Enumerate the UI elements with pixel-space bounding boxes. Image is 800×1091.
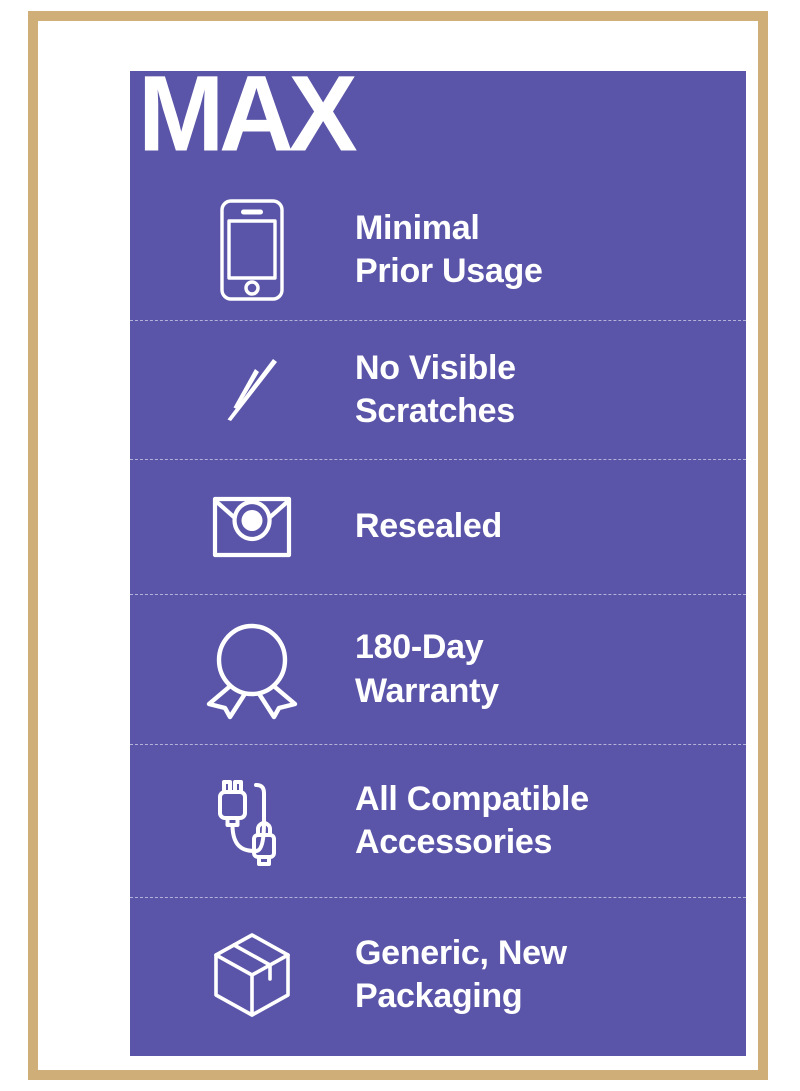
feature-row-resealed: Resealed [130, 459, 746, 594]
feature-label: Resealed [355, 505, 502, 548]
feature-label: 180-Day Warranty [355, 626, 499, 712]
white-matte: MAX [38, 21, 758, 1070]
gold-frame-border: MAX [28, 11, 768, 1080]
feature-label: No Visible Scratches [355, 347, 516, 433]
feature-row-packaging: Generic, New Packaging [130, 897, 746, 1052]
purple-panel: MAX [130, 71, 746, 1056]
feature-row-no-visible-scratches: No Visible Scratches [130, 320, 746, 459]
poster: MAX [0, 0, 800, 1091]
feature-icon-cell [130, 496, 355, 558]
award-ribbon-icon [199, 618, 305, 722]
feature-icon-cell [130, 198, 355, 302]
feature-label: All Compatible Accessories [355, 778, 589, 864]
smartphone-icon [218, 198, 286, 302]
brand-title: MAX [138, 71, 352, 169]
feature-icon-cell [130, 355, 355, 425]
usb-cable-icon [214, 773, 290, 869]
feature-icon-cell [130, 773, 355, 869]
feature-list: Minimal Prior Usage No Vis [130, 180, 746, 1052]
feature-row-accessories: All Compatible Accessories [130, 744, 746, 897]
feature-icon-cell [130, 931, 355, 1019]
envelope-seal-icon [212, 496, 292, 558]
feature-row-minimal-prior-usage: Minimal Prior Usage [130, 180, 746, 320]
scratches-icon [211, 355, 293, 425]
feature-row-warranty: 180-Day Warranty [130, 594, 746, 744]
feature-label: Minimal Prior Usage [355, 207, 543, 293]
feature-icon-cell [130, 618, 355, 722]
package-box-icon [210, 931, 294, 1019]
feature-label: Generic, New Packaging [355, 932, 567, 1018]
